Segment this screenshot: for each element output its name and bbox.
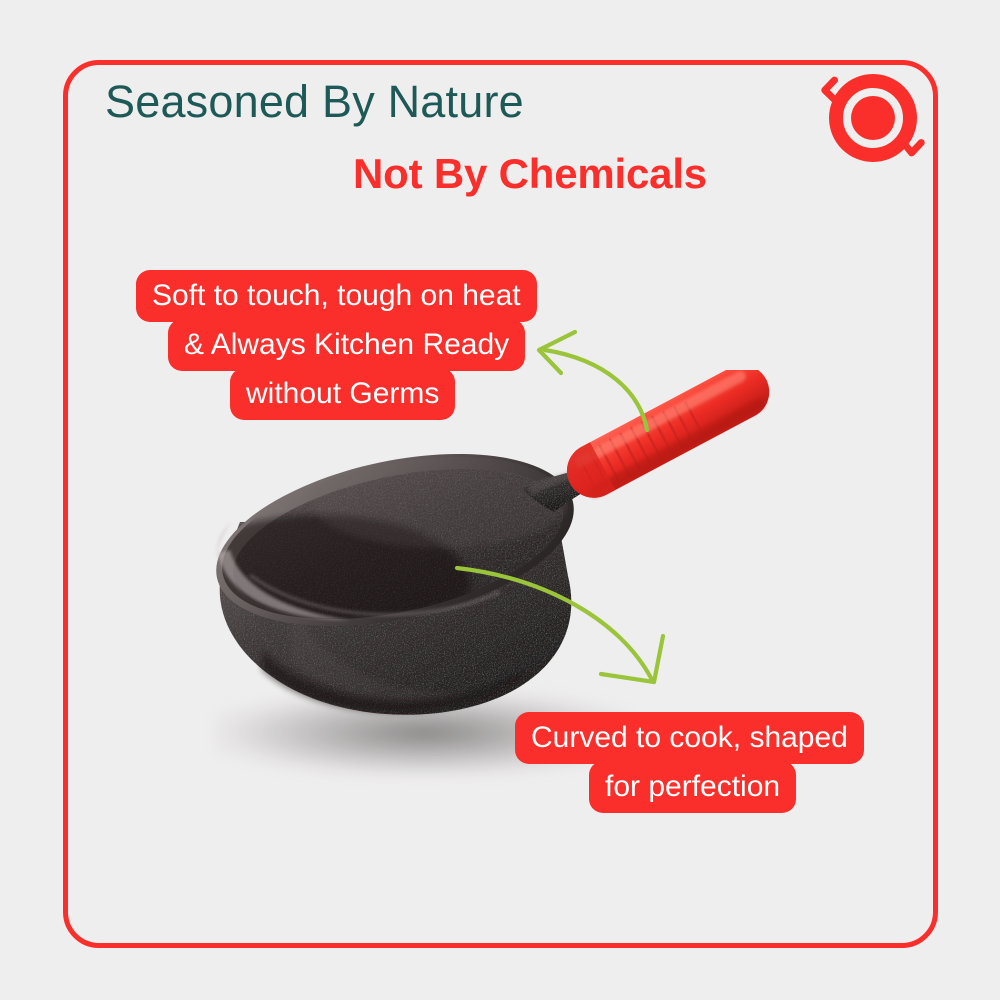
callout-line: & Always Kitchen Ready (168, 319, 525, 371)
brand-logo-icon (818, 62, 928, 172)
page-title: Seasoned By Nature (105, 74, 524, 130)
arrow-to-handle-callout-head (539, 332, 575, 373)
infographic-canvas: Seasoned By Nature Not By Chemicals (0, 0, 1000, 1000)
handle-callout: Soft to touch, tough on heat & Always Ki… (136, 270, 537, 420)
skillet-handle (557, 370, 778, 507)
shape-callout: Curved to cook, shaped for perfection (515, 712, 864, 813)
callout-line: for perfection (589, 761, 796, 813)
callout-line: without Germs (230, 368, 455, 420)
callout-line: Curved to cook, shaped (515, 712, 864, 764)
callout-line: Soft to touch, tough on heat (136, 270, 537, 322)
